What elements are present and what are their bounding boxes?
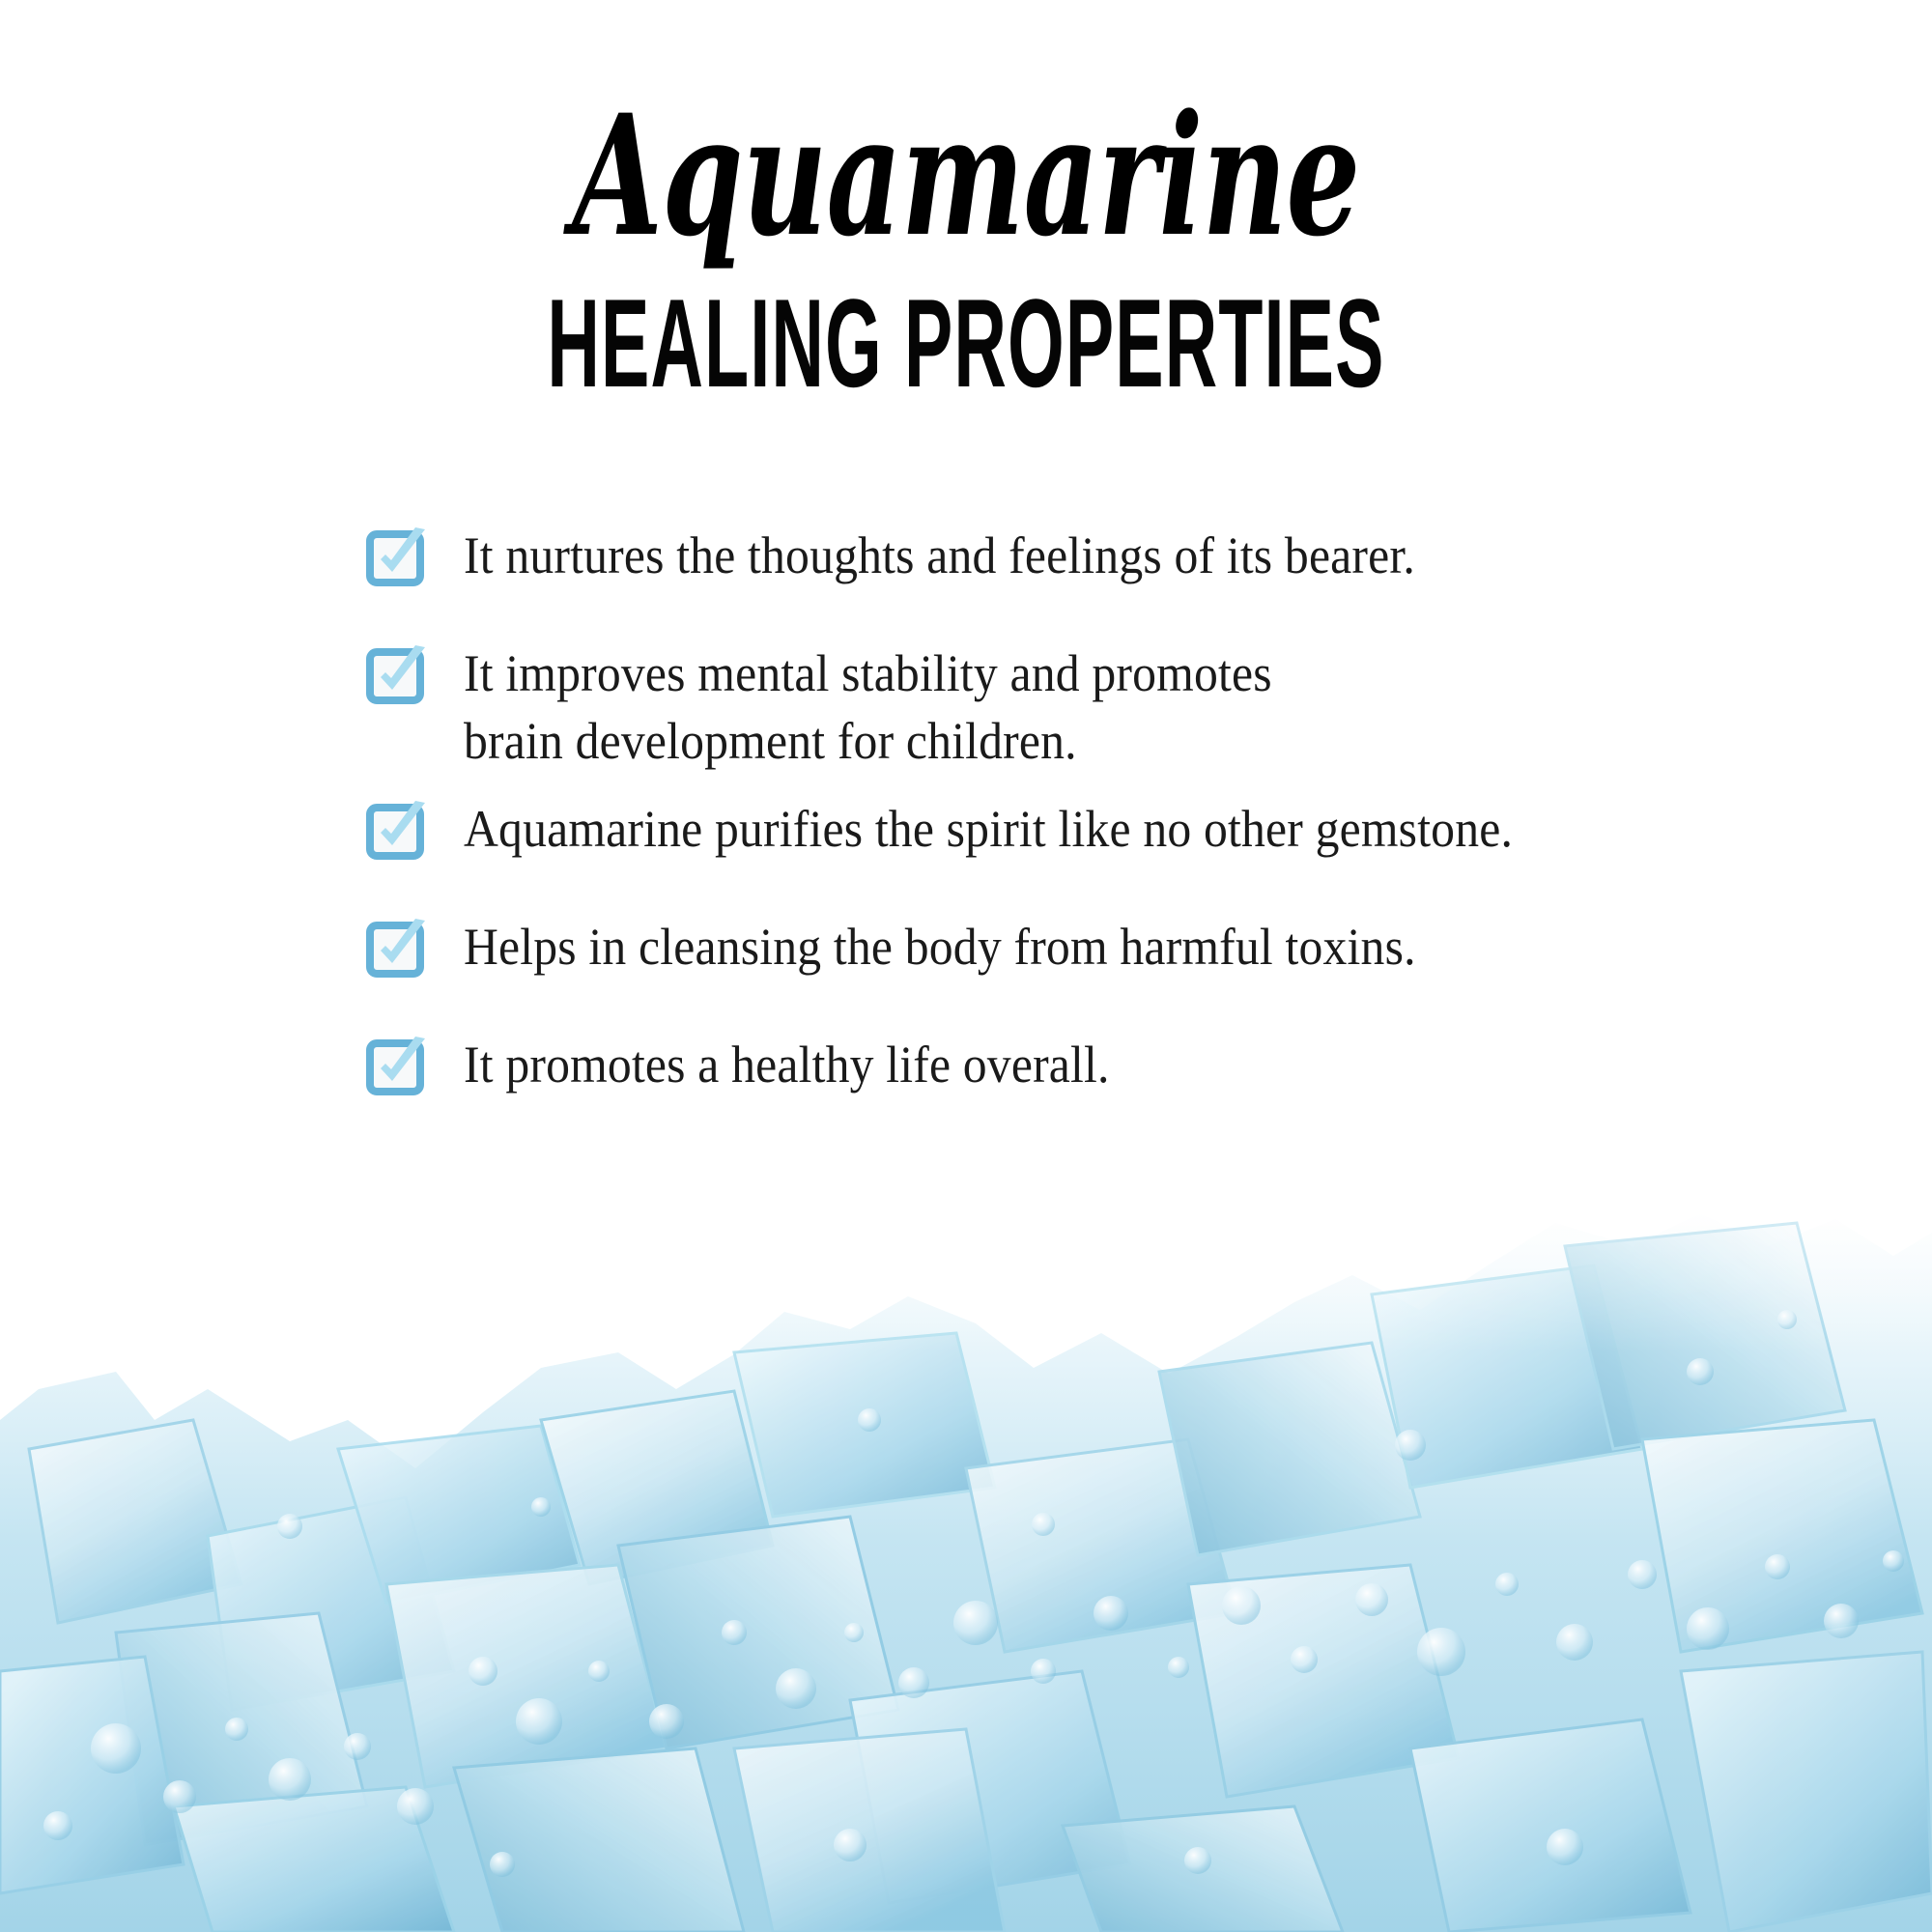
page-title: Aquamarine: [290, 93, 1642, 259]
checkbox-checked-icon: [367, 527, 427, 587]
list-item: It promotes a healthy life overall.: [367, 1031, 1816, 1098]
checkbox-checked-icon: [367, 645, 427, 705]
list-item-text: It nurtures the thoughts and feelings of…: [464, 522, 1415, 589]
checkbox-checked-icon: [367, 801, 427, 861]
list-item: It nurtures the thoughts and feelings of…: [367, 522, 1816, 589]
list-item: Aquamarine purifies the spirit like no o…: [367, 795, 1816, 863]
list-item-text: It improves mental stability and promote…: [464, 639, 1272, 775]
ice-cubes-photo: [0, 1130, 1932, 1932]
header: Aquamarine HEALING PROPERTIES: [0, 0, 1932, 406]
list-item-text: Helps in cleansing the body from harmful…: [464, 913, 1416, 980]
poster: Aquamarine HEALING PROPERTIES It nurture…: [0, 0, 1932, 1932]
healing-properties-list: It nurtures the thoughts and feelings of…: [367, 522, 1816, 1098]
list-item-text: Aquamarine purifies the spirit like no o…: [464, 795, 1513, 863]
page-subtitle: HEALING PROPERTIES: [406, 280, 1526, 406]
list-item: It improves mental stability and promote…: [367, 639, 1816, 775]
list-item-text: It promotes a healthy life overall.: [464, 1031, 1110, 1098]
checkbox-checked-icon: [367, 919, 427, 979]
list-item: Helps in cleansing the body from harmful…: [367, 913, 1816, 980]
checkbox-checked-icon: [367, 1037, 427, 1096]
